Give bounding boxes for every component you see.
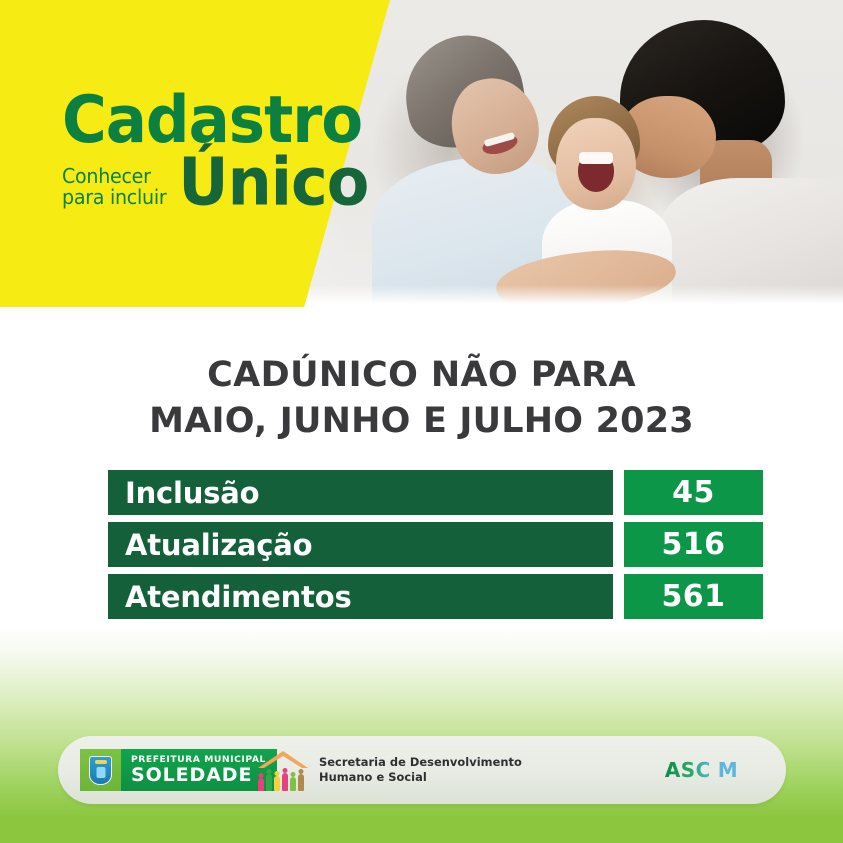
table-row: Atualização 516 bbox=[108, 522, 763, 567]
footer-logo-bar: PREFEITURA MUNICIPAL SOLEDADE Secretaria bbox=[58, 736, 786, 804]
people-figures bbox=[258, 773, 304, 791]
soledade-text-block: PREFEITURA MUNICIPAL SOLEDADE bbox=[121, 749, 277, 791]
logo-second-row: Conhecer para incluir Único bbox=[62, 155, 392, 212]
person-icon bbox=[274, 776, 280, 791]
photo-bottom-fade bbox=[300, 285, 843, 307]
person-icon bbox=[266, 774, 272, 791]
title-line-2: MAIO, JUNHO E JULHO 2023 bbox=[0, 398, 843, 444]
cadastro-unico-logo: Cadastro Conhecer para incluir Único bbox=[62, 88, 392, 218]
row-gap bbox=[613, 574, 624, 619]
child-teeth bbox=[579, 152, 613, 164]
table-row: Atendimentos 561 bbox=[108, 574, 763, 619]
soledade-label: SOLEDADE bbox=[131, 766, 266, 785]
logo-tagline: Conhecer para incluir bbox=[62, 166, 166, 212]
row-label: Atualização bbox=[108, 522, 613, 567]
row-label: Inclusão bbox=[108, 470, 613, 515]
row-value: 45 bbox=[624, 470, 763, 515]
prefeitura-soledade-logo: PREFEITURA MUNICIPAL SOLEDADE bbox=[80, 749, 277, 791]
house-people-icon bbox=[256, 748, 310, 792]
ascm-m-label: M bbox=[718, 758, 738, 782]
title-line-1: CADÚNICO NÃO PARA bbox=[0, 352, 843, 398]
shield-icon bbox=[89, 756, 112, 785]
poster: Cadastro Conhecer para incluir Único CAD… bbox=[0, 0, 843, 843]
logo-unico-word: Único bbox=[178, 152, 368, 212]
stats-table: Inclusão 45 Atualização 516 Atendimentos… bbox=[108, 470, 763, 626]
person-icon bbox=[282, 773, 288, 791]
person-icon bbox=[290, 777, 296, 791]
table-row: Inclusão 45 bbox=[108, 470, 763, 515]
roof-icon bbox=[256, 749, 310, 769]
ascm-logo: ASCM bbox=[665, 758, 738, 782]
person-wheelchair-icon bbox=[258, 778, 264, 791]
secretaria-label: Secretaria de Desenvolvimento Humano e S… bbox=[319, 755, 522, 786]
row-gap bbox=[613, 522, 624, 567]
asc-label: ASC bbox=[665, 758, 711, 782]
row-value: 561 bbox=[624, 574, 763, 619]
secretaria-logo: Secretaria de Desenvolvimento Humano e S… bbox=[256, 748, 522, 792]
page-title: CADÚNICO NÃO PARA MAIO, JUNHO E JULHO 20… bbox=[0, 352, 843, 444]
person-cane-icon bbox=[298, 774, 304, 791]
row-value: 516 bbox=[624, 522, 763, 567]
coat-of-arms-icon bbox=[80, 749, 121, 791]
row-gap bbox=[613, 470, 624, 515]
row-label: Atendimentos bbox=[108, 574, 613, 619]
header-banner: Cadastro Conhecer para incluir Único bbox=[0, 0, 843, 307]
